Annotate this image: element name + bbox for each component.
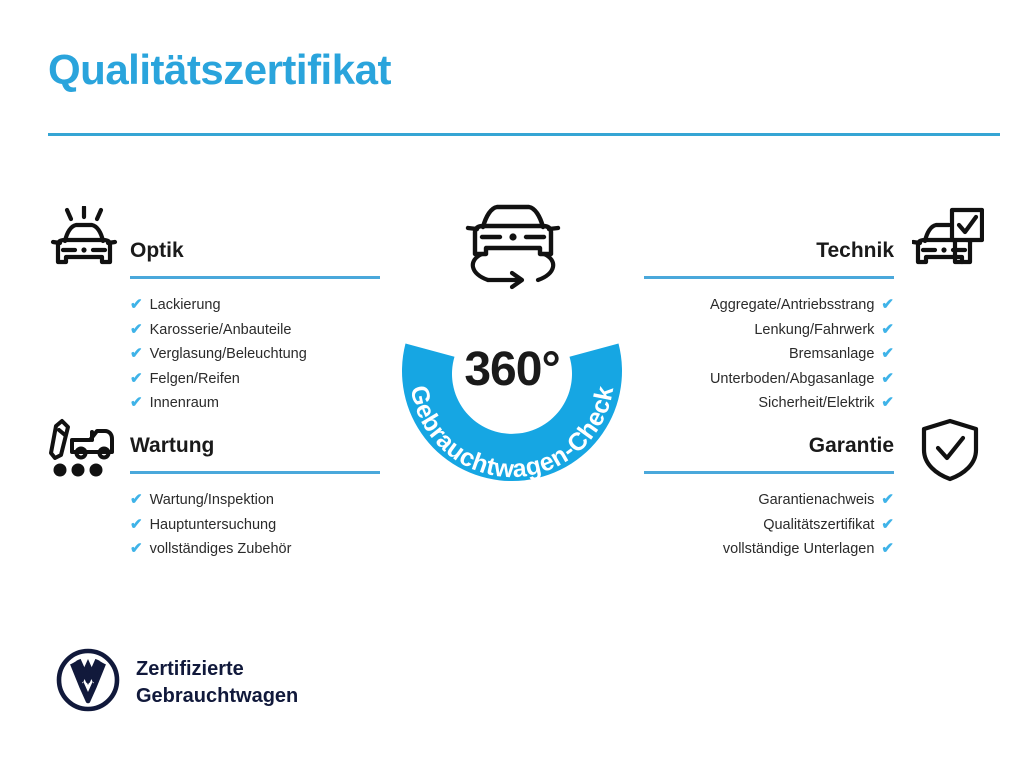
check-icon: ✔ (130, 322, 143, 337)
section-wartung-header: Wartung (130, 432, 380, 474)
section-optik-title: Optik (130, 237, 380, 265)
list-item-label: Aggregate/Antriebsstrang (710, 293, 874, 318)
list-item-label: Innenraum (150, 391, 219, 416)
check-icon: ✔ (130, 517, 143, 532)
brand-text-line2: Gebrauchtwagen (136, 683, 298, 710)
check-icon: ✔ (130, 395, 143, 410)
section-optik: Optik ✔ Lackierung ✔ Karosserie/Anbautei… (130, 237, 380, 432)
check-icon: ✔ (130, 541, 143, 556)
check-icon: ✔ (130, 297, 143, 312)
section-optik-list: ✔ Lackierung ✔ Karosserie/Anbauteile ✔ V… (130, 293, 380, 416)
check-icon: ✔ (881, 346, 894, 361)
list-item-label: Wartung/Inspektion (150, 488, 274, 513)
list-item: ✔ Hauptuntersuchung (130, 513, 380, 538)
list-item-label: Garantienachweis (758, 488, 874, 513)
badge-center-value: 360° (374, 342, 650, 397)
list-item-label: Karosserie/Anbauteile (150, 318, 292, 343)
section-garantie-list: ✔ Garantienachweis ✔ Qualitätszertifikat… (644, 488, 894, 562)
section-technik: Technik ✔ Aggregate/Antriebsstrang ✔ Len… (644, 237, 894, 432)
section-garantie-header: Garantie (644, 432, 894, 474)
section-technik-title: Technik (644, 237, 894, 265)
list-item: ✔ Felgen/Reifen (130, 367, 380, 392)
section-garantie-underline (644, 471, 894, 474)
list-item-label: Felgen/Reifen (150, 367, 240, 392)
vw-logo-icon (56, 648, 120, 717)
check-icon: ✔ (881, 297, 894, 312)
car-checkbox-icon (912, 206, 984, 274)
section-wartung-list: ✔ Wartung/Inspektion ✔ Hauptuntersuchung… (130, 488, 380, 562)
certificate-page: Qualitätszertifikat Optik (0, 0, 1024, 768)
check-icon: ✔ (130, 492, 143, 507)
list-item-label: Unterboden/Abgasanlage (710, 367, 874, 392)
section-wartung-title: Wartung (130, 432, 380, 460)
check-icon: ✔ (130, 371, 143, 386)
section-technik-header: Technik (644, 237, 894, 279)
list-item: ✔ Sicherheit/Elektrik (644, 391, 894, 416)
list-item: ✔ vollständiges Zubehör (130, 537, 380, 562)
list-item-label: Hauptuntersuchung (150, 513, 277, 538)
360-check-badge: Gebrauchtwagen-Check 360° (374, 192, 650, 492)
list-item: ✔ Lackierung (130, 293, 380, 318)
check-icon: ✔ (881, 371, 894, 386)
brand-text-line1: Zertifizierte (136, 656, 298, 683)
check-icon: ✔ (881, 395, 894, 410)
list-item: ✔ vollständige Unterlagen (644, 537, 894, 562)
check-icon: ✔ (881, 492, 894, 507)
list-item-label: Verglasung/Beleuchtung (150, 342, 307, 367)
list-item-label: Lenkung/Fahrwerk (754, 318, 874, 343)
list-item: ✔ Lenkung/Fahrwerk (644, 318, 894, 343)
section-optik-header: Optik (130, 237, 380, 279)
list-item-label: Qualitätszertifikat (763, 513, 874, 538)
brand-text-block: Zertifizierte Gebrauchtwagen (136, 656, 298, 710)
list-item: ✔ Wartung/Inspektion (130, 488, 380, 513)
check-icon: ✔ (881, 517, 894, 532)
list-item: ✔ Unterboden/Abgasanlage (644, 367, 894, 392)
list-item: ✔ Aggregate/Antriebsstrang (644, 293, 894, 318)
list-item: ✔ Karosserie/Anbauteile (130, 318, 380, 343)
section-wartung: Wartung ✔ Wartung/Inspektion ✔ Hauptunte… (130, 432, 380, 578)
list-item-label: Sicherheit/Elektrik (758, 391, 874, 416)
shield-check-icon (918, 418, 982, 482)
car-polish-icon (48, 206, 120, 274)
list-item: ✔ Qualitätszertifikat (644, 513, 894, 538)
list-item-label: Bremsanlage (789, 342, 874, 367)
car-service-tool-icon (48, 418, 120, 478)
list-item-label: Lackierung (150, 293, 221, 318)
page-title: Qualitätszertifikat (48, 48, 391, 92)
check-icon: ✔ (881, 541, 894, 556)
list-item: ✔ Innenraum (130, 391, 380, 416)
header-divider (48, 133, 1000, 136)
list-item-label: vollständige Unterlagen (723, 537, 875, 562)
list-item-label: vollständiges Zubehör (150, 537, 292, 562)
check-icon: ✔ (130, 346, 143, 361)
list-item: ✔ Verglasung/Beleuchtung (130, 342, 380, 367)
section-technik-underline (644, 276, 894, 279)
brand-lockup: Zertifizierte Gebrauchtwagen (56, 648, 298, 717)
list-item: ✔ Bremsanlage (644, 342, 894, 367)
section-wartung-underline (130, 471, 380, 474)
section-garantie-title: Garantie (644, 432, 894, 460)
check-icon: ✔ (881, 322, 894, 337)
section-garantie: Garantie ✔ Garantienachweis ✔ Qualitätsz… (644, 432, 894, 578)
section-optik-underline (130, 276, 380, 279)
list-item: ✔ Garantienachweis (644, 488, 894, 513)
section-technik-list: ✔ Aggregate/Antriebsstrang ✔ Lenkung/Fah… (644, 293, 894, 416)
